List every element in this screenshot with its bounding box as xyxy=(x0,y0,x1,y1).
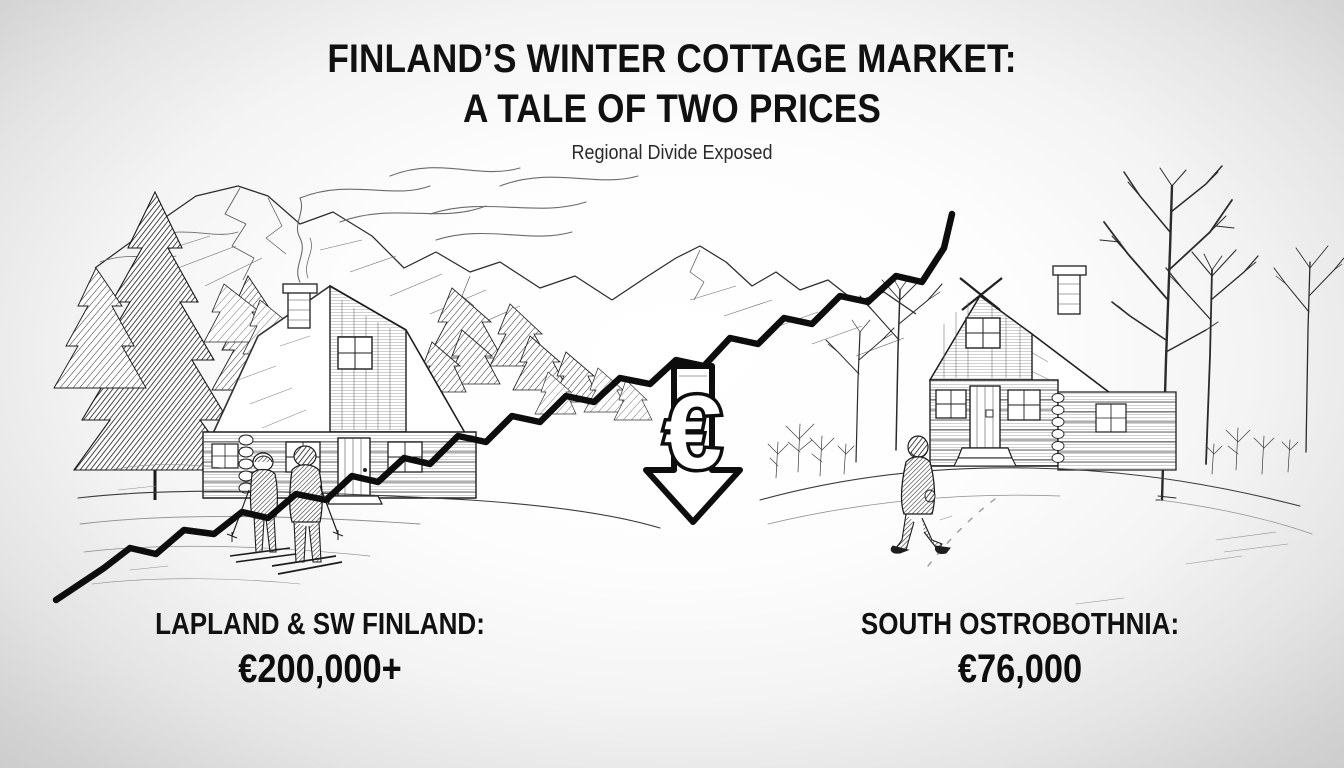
pine-cluster-right xyxy=(417,288,600,402)
bare-tree-tall xyxy=(1166,250,1258,464)
bare-shrub-cluster-right xyxy=(1206,428,1298,474)
infographic-canvas: € FINLAND’S WINTER COTTAGE MARKET: A TAL… xyxy=(0,0,1344,768)
cottage-chimney-right xyxy=(1053,266,1086,314)
right-snow-ground xyxy=(760,468,1312,604)
right-log-cottage xyxy=(930,266,1176,470)
cottage-attic-window-right xyxy=(966,318,1000,348)
cottage-window-right-1 xyxy=(936,390,966,418)
euro-down-arrow-graphic: € xyxy=(646,366,740,522)
footprint-trail xyxy=(928,494,1002,566)
cottage-attic-window-left xyxy=(338,337,372,369)
bare-tree-mid-b xyxy=(826,320,894,462)
illustration-scene: € xyxy=(0,0,1344,768)
cottage-window-right-2 xyxy=(1008,390,1040,420)
bare-shrub-cluster-left xyxy=(768,424,854,478)
cottage-window-right-3 xyxy=(1096,404,1126,432)
euro-symbol-icon: € xyxy=(664,375,722,491)
chimney-smoke-left xyxy=(297,198,311,282)
cottage-window-left-3 xyxy=(212,444,238,468)
bare-tree-far-right xyxy=(1274,246,1344,452)
